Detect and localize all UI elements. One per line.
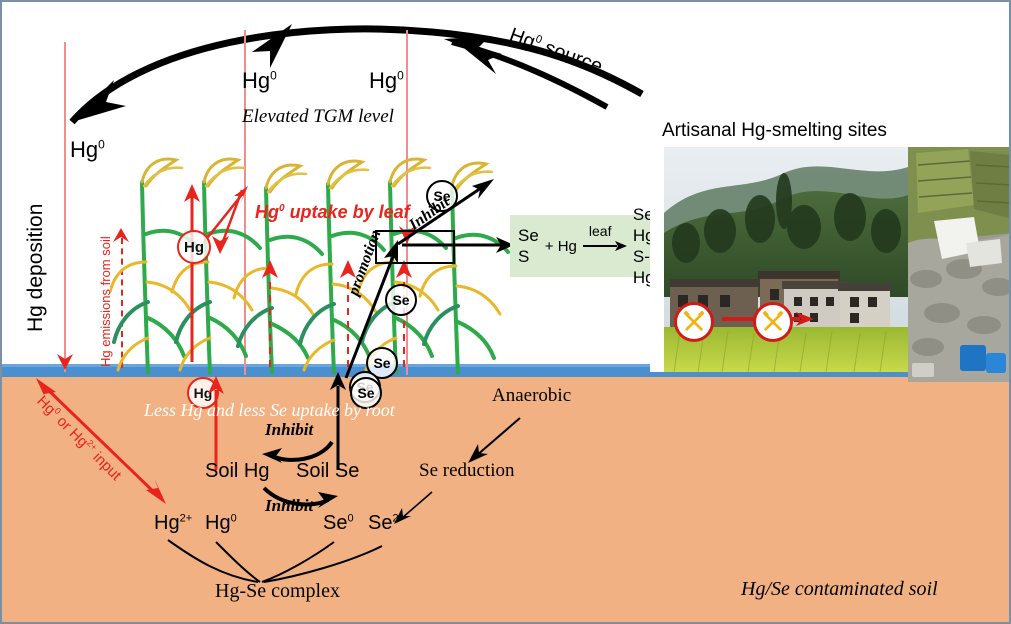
sp3-base: Se	[368, 512, 392, 534]
hg-deposition-arrowhead	[54, 342, 76, 372]
mining-hammers-icon-right	[753, 302, 793, 342]
hg-input-arrow	[30, 378, 190, 513]
hg0-mid-base: Hg	[242, 68, 270, 93]
anaerobic-label: Anaerobic	[492, 385, 571, 407]
root-uptake-label: Less Hg and less Se uptake by root	[144, 400, 395, 421]
hg-se-complex-label: Hg-Se complex	[215, 580, 340, 603]
hg0-left-sup: 0	[98, 138, 105, 152]
species-se2minus: Se2-	[368, 512, 402, 535]
mining-hammers-icon-left	[674, 302, 714, 342]
uptake-base: Hg	[255, 202, 279, 222]
reaction-reactant-se: Se	[518, 225, 539, 246]
sp2-base: Se	[323, 512, 347, 534]
species-hg2plus: Hg2+	[154, 512, 192, 535]
soil-footer-label: Hg/Se contaminated soil	[741, 578, 938, 601]
leaf-reaction-box: Se S + Hg leaf Se-Hg S-Hg	[510, 215, 662, 277]
species-se0: Se0	[323, 512, 354, 535]
artisanal-sites-caption: Artisanal Hg-smelting sites	[662, 120, 887, 142]
figure-canvas: Hg0 source Hg deposition Hg emissions fr…	[0, 0, 1011, 624]
se-reduction-label: Se reduction	[419, 460, 515, 482]
hammers-glyph-right	[762, 311, 784, 333]
hg0-uptake-by-leaf-label: Hg0 uptake by leaf	[255, 202, 410, 223]
root-hg-uptake-arrow	[207, 374, 225, 472]
sp1-base: Hg	[205, 512, 231, 534]
elevated-tgm-label: Elevated TGM level	[242, 106, 394, 128]
reaction-arrow-label: leaf	[589, 223, 612, 239]
reaction-plus-hg: + Hg	[545, 238, 577, 255]
smelting-waste-photo	[908, 147, 1011, 382]
uptake-rest: uptake by leaf	[285, 202, 410, 222]
hg0-source-arrow	[432, 12, 642, 122]
tgm-guide-line-1	[64, 42, 66, 372]
hg0-label-right: Hg0	[369, 68, 404, 94]
hg0-right-sup: 0	[397, 69, 404, 83]
hg-marker-canopy: Hg	[177, 230, 211, 264]
hg-deposition-label: Hg deposition	[24, 204, 48, 332]
hg0-right-base: Hg	[369, 68, 397, 93]
hg0-mid-sup: 0	[270, 69, 277, 83]
sp2-sup: 0	[347, 512, 353, 524]
sp0-base: Hg	[154, 512, 180, 534]
hg0-left-base: Hg	[70, 137, 98, 162]
hammers-glyph-left	[683, 311, 705, 333]
hg0-label-left: Hg0	[70, 137, 105, 163]
sp1-sup: 0	[231, 512, 237, 524]
hg0-label-mid: Hg0	[242, 68, 277, 94]
reaction-arrow-icon	[583, 240, 627, 252]
inhibit-label-top: Inhibit	[265, 420, 313, 440]
reaction-reactant-s: S	[518, 246, 539, 267]
inhibit-label-bottom: Inhibit	[265, 496, 313, 516]
species-hg0: Hg0	[205, 512, 237, 535]
sp0-sup: 2+	[180, 512, 193, 524]
sp3-sup: 2-	[392, 512, 402, 524]
